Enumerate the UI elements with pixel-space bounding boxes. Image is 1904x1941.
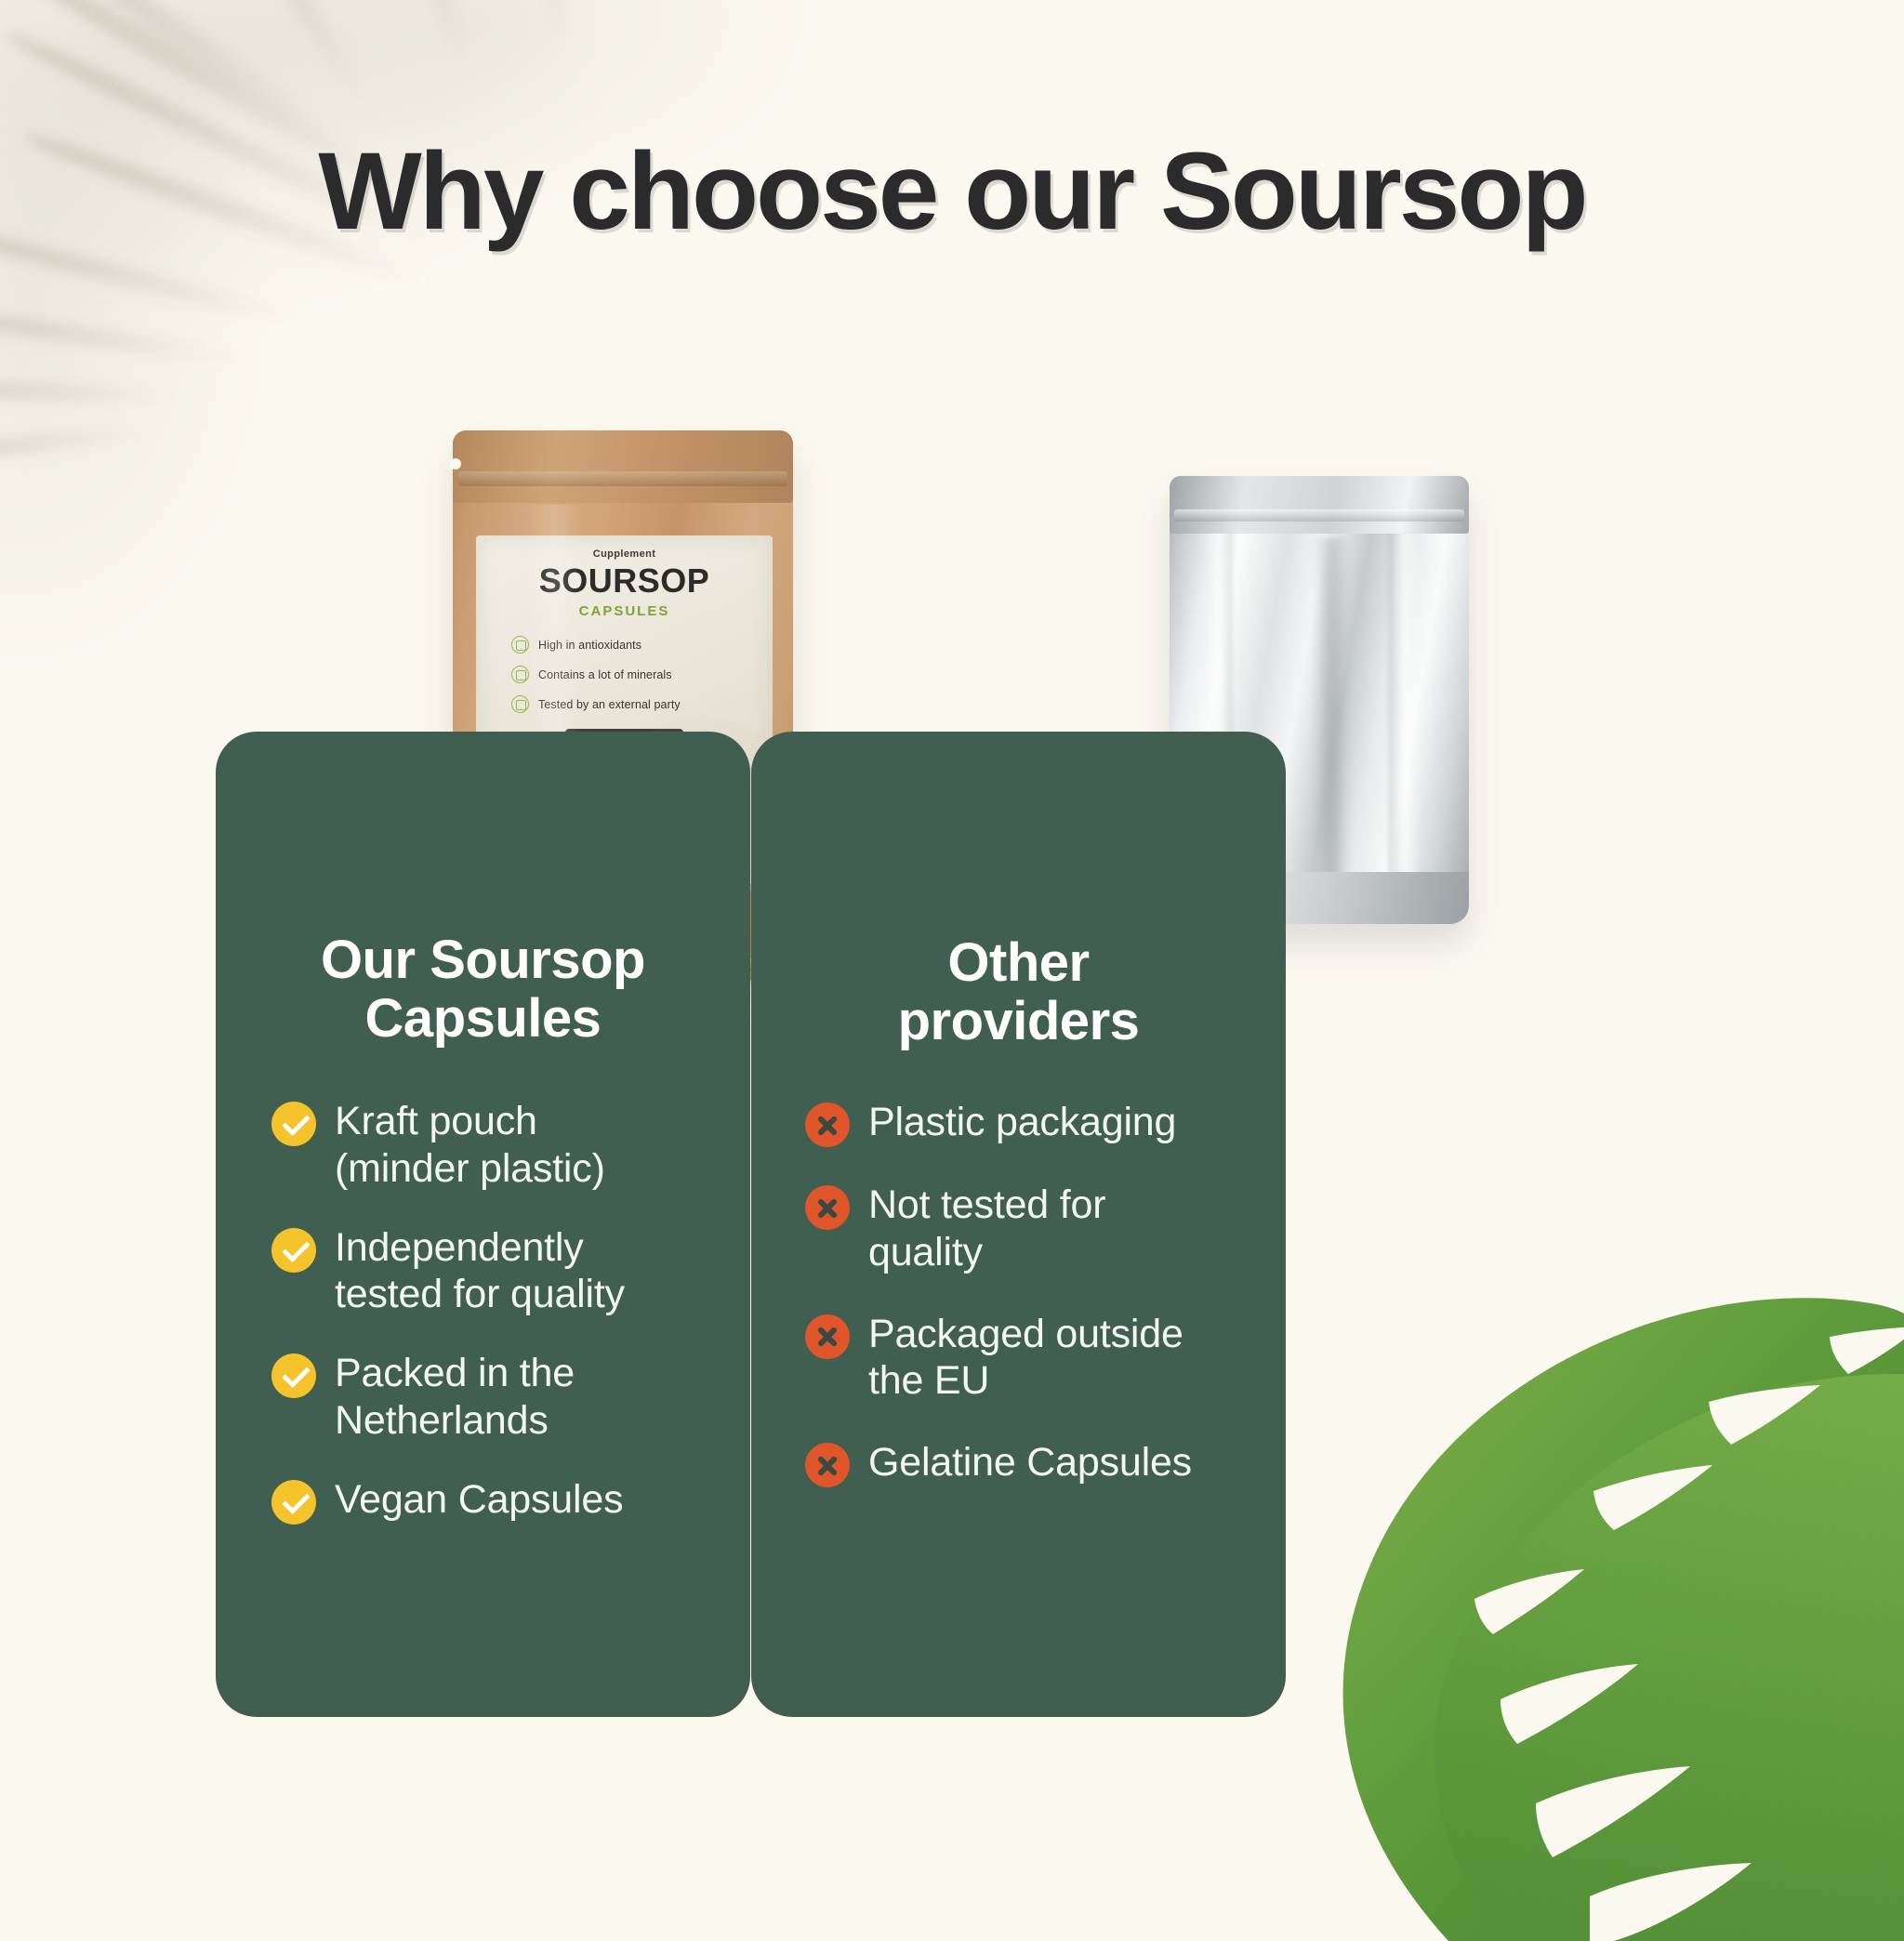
list-item: Plastic packaging <box>805 1099 1260 1147</box>
card-title-others: Other providers <box>751 732 1286 1050</box>
list-item: Packaged outsidethe EU <box>805 1311 1260 1405</box>
list-item: Independentlytested for quality <box>271 1224 715 1318</box>
list-item-label: Vegan Capsules <box>335 1476 623 1524</box>
check-circle-icon <box>271 1353 316 1398</box>
card-other-providers: Other providers Plastic packaging Not te… <box>751 732 1286 1717</box>
list-item-label: Kraft pouch(minder plastic) <box>335 1098 605 1192</box>
check-circle-icon <box>271 1102 316 1146</box>
cross-circle-icon <box>805 1185 850 1230</box>
list-item: Packed in theNetherlands <box>271 1350 715 1444</box>
list-item: Not tested forquality <box>805 1182 1260 1275</box>
list-item-label: Packed in theNetherlands <box>335 1350 575 1444</box>
list-item-label: Gelatine Capsules <box>868 1439 1192 1486</box>
comparison-cards: Our Soursop Capsules Kraft pouch(minder … <box>0 0 1904 1904</box>
list-item: Vegan Capsules <box>271 1476 715 1525</box>
cross-circle-icon <box>805 1103 850 1147</box>
list-item-label: Independentlytested for quality <box>335 1224 625 1318</box>
list-item: Kraft pouch(minder plastic) <box>271 1098 715 1192</box>
list-item-label: Plastic packaging <box>868 1099 1176 1146</box>
list-item-label: Not tested forquality <box>868 1182 1105 1275</box>
list-item-label: Packaged outsidethe EU <box>868 1311 1183 1405</box>
card-title-ours: Our Soursop Capsules <box>216 732 750 1048</box>
list-item: Gelatine Capsules <box>805 1439 1260 1487</box>
check-circle-icon <box>271 1228 316 1273</box>
benefit-list-ours: Kraft pouch(minder plastic) Independentl… <box>216 1098 750 1524</box>
check-circle-icon <box>271 1480 316 1525</box>
card-our-soursop-capsules: Our Soursop Capsules Kraft pouch(minder … <box>216 732 750 1717</box>
cross-circle-icon <box>805 1443 850 1487</box>
drawback-list-others: Plastic packaging Not tested forquality … <box>751 1099 1286 1487</box>
cross-circle-icon <box>805 1314 850 1359</box>
